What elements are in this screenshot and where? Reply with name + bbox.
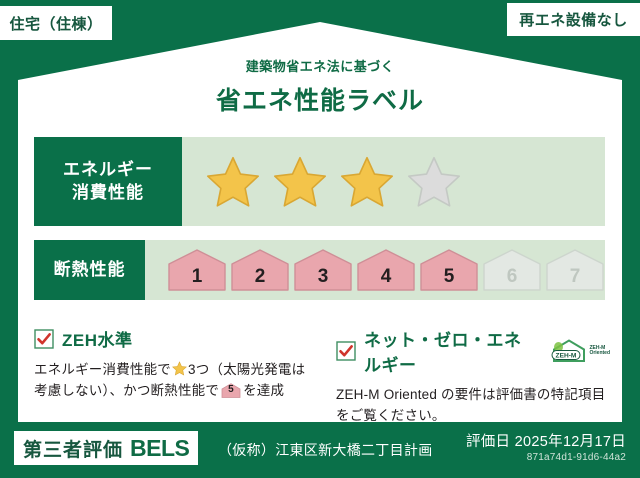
bels-jp-label: 第三者評価 (23, 435, 123, 462)
label-title-block: 建築物省エネ法に基づく 省エネ性能ラベル (0, 56, 640, 117)
zeh-m-house-icon: ZEH-M (550, 338, 588, 364)
star-filled-icon (271, 154, 329, 210)
bels-chip: 第三者評価 BELS (14, 431, 198, 465)
bels-en-label: BELS (130, 435, 189, 462)
zeh-m-logo-sub2: Oriented (589, 351, 610, 357)
note-net-zero-energy-body: ZEH-M Oriented の要件は評価書の特記項目をご覧ください。 (336, 385, 610, 427)
label-footer: 第三者評価 BELS （仮称）江東区新大橋二丁目計画 評価日 2025年12月1… (0, 422, 640, 478)
insulation-level-badge: 3 (293, 248, 353, 292)
star-filled-icon (204, 154, 262, 210)
energy-performance-label: 住宅（住棟） 再エネ設備なし 建築物省エネ法に基づく 省エネ性能ラベル エネルギ… (0, 0, 640, 478)
insulation-level-badge: 6 (482, 248, 542, 292)
energy-consumption-key: エネルギー 消費性能 (34, 137, 182, 226)
insulation-level-badge: 5 (419, 248, 479, 292)
zeh-m-logo-text: ZEH-M (556, 352, 577, 359)
zeh-m-logo: ZEH-M ZEH-M Oriented (550, 338, 610, 364)
insulation-level-value: 4 (356, 266, 416, 288)
energy-consumption-key-line1: エネルギー (63, 159, 153, 182)
insulation-performance-key-label: 断熱性能 (54, 259, 126, 282)
insulation-level-badge: 1 (167, 248, 227, 292)
insulation-level-badge: 7 (545, 248, 605, 292)
checkbox-checked-icon (34, 329, 54, 349)
note-net-zero-energy-head: ネット・ゼロ・エネルギー ZEH-M ZEH-M Oriented (336, 326, 610, 376)
note-zeh-standard: ZEH水準 エネルギー消費性能で3つ（太陽光発電は考慮しない）、かつ断熱性能で5… (18, 318, 320, 418)
insulation-level-badge: 4 (356, 248, 416, 292)
note-zeh-standard-head: ZEH水準 (34, 326, 308, 351)
notes-section: ZEH水準 エネルギー消費性能で3つ（太陽光発電は考慮しない）、かつ断熱性能で5… (18, 318, 622, 418)
title-subtitle: 建築物省エネ法に基づく (0, 56, 640, 75)
insulation-level-scale: 1234567 (145, 248, 605, 292)
project-name: （仮称）江東区新大橋二丁目計画 (218, 440, 433, 460)
insulation-level-value: 1 (167, 266, 227, 288)
insulation-level-value: 2 (230, 266, 290, 288)
note-zeh-body-part1: エネルギー消費性能で (34, 362, 171, 377)
energy-consumption-value (182, 137, 605, 226)
evaluation-id: 871a74d1-91d6-44a2 (527, 452, 626, 463)
tag-renewable-energy: 再エネ設備なし (507, 3, 640, 36)
insulation-level-badge: 2 (230, 248, 290, 292)
evaluation-date: 評価日 2025年12月17日 (466, 430, 626, 451)
inline-insulation-badge: 5 (221, 383, 241, 398)
insulation-level-value: 6 (482, 266, 542, 288)
tag-building-type-label: 住宅（住棟） (9, 13, 102, 34)
star-rating (182, 154, 463, 210)
star-filled-icon (338, 154, 396, 210)
energy-consumption-row: エネルギー 消費性能 (34, 137, 605, 226)
insulation-level-value: 7 (545, 266, 605, 288)
energy-consumption-key-line2: 消費性能 (72, 182, 144, 205)
note-zeh-standard-title: ZEH水準 (62, 326, 133, 351)
checkbox-checked-icon (336, 341, 356, 361)
star-icon (172, 361, 187, 376)
note-net-zero-energy: ネット・ゼロ・エネルギー ZEH-M ZEH-M Oriented ZEH-M … (320, 318, 622, 418)
note-zeh-body-part3: を達成 (243, 383, 284, 398)
insulation-level-value: 3 (293, 266, 353, 288)
insulation-performance-row: 断熱性能 1234567 (34, 240, 605, 300)
star-empty-icon (405, 154, 463, 210)
insulation-performance-value: 1234567 (145, 240, 605, 300)
title-main: 省エネ性能ラベル (0, 81, 640, 117)
insulation-level-value: 5 (419, 266, 479, 288)
insulation-performance-key: 断熱性能 (34, 240, 145, 300)
tag-building-type: 住宅（住棟） (0, 6, 112, 40)
note-net-zero-energy-title: ネット・ゼロ・エネルギー (364, 326, 536, 376)
inline-insulation-badge-value: 5 (221, 382, 241, 398)
tag-renewable-energy-label: 再エネ設備なし (519, 9, 628, 30)
note-zeh-standard-body: エネルギー消費性能で3つ（太陽光発電は考慮しない）、かつ断熱性能で5を達成 (34, 360, 308, 402)
